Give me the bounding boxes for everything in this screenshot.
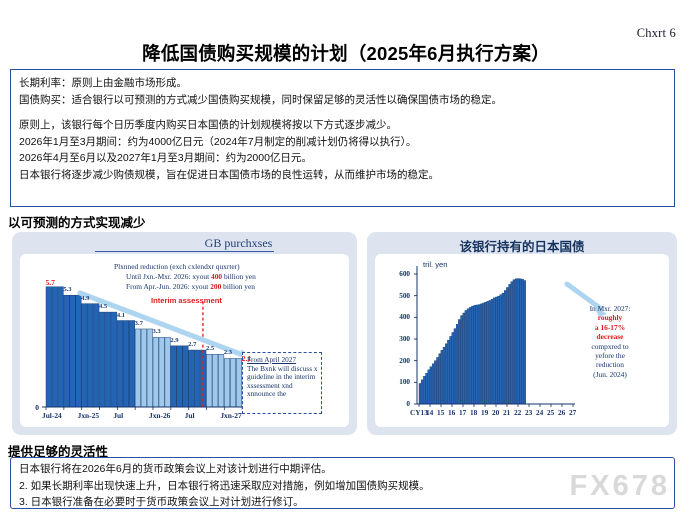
flexibility-line: 日本银行将在2026年6月的货币政策会议上对该计划进行中期评估。 [19, 461, 666, 478]
callout-title: From April 2027 [247, 355, 296, 364]
x-axis-tick-label: 17 [459, 408, 466, 417]
callout-body: The Bxnk will discuss x guideline in the… [247, 365, 318, 399]
ann-line-3: a 16-17% [567, 323, 653, 332]
planned-reduction-line-2: From Apr.-Jun. 2026: xyout 200 billion y… [126, 282, 255, 291]
left-chart-plot-area: 0 Plxnned reduction (exch cxlendxr quxrt… [20, 254, 349, 427]
x-axis-tick-label: 22 [514, 408, 521, 417]
svg-text:0: 0 [35, 403, 39, 412]
bar-value-label: 3.7 [135, 320, 143, 327]
policy-line: 2026年4月至6月以及2027年1月至3月期间：约为2000亿日元。 [19, 150, 666, 167]
right-chart-plot-area: tril. yen In Mxr. 2027: roughly a 16-17%… [375, 254, 669, 427]
flexibility-line: 3. 日本银行准备在必要时于货币政策会议上对计划进行修订。 [19, 494, 666, 511]
ann-line-2: roughly [567, 313, 653, 322]
pl1-pre: Until Jxn.-Mxr. 2026: xyout [126, 272, 211, 281]
bar-value-label: 5.7 [45, 278, 55, 287]
policy-line: 国债购买：适合银行以可预测的方式减少国债购买规模，同时保留足够的灵活性以确保国债… [19, 92, 666, 109]
x-axis-tick-label: Jul [185, 411, 195, 420]
x-axis-tick-label: Jxn-25 [78, 411, 99, 420]
policy-line: 2026年1月至3月期间：约为4000亿日元（2024年7月制定的削减计划仍将得… [19, 134, 666, 151]
pl2-pre: From Apr.-Jun. 2026: xyout [126, 282, 210, 291]
x-axis-tick-label: Jul [113, 411, 123, 420]
x-axis-tick-label: Jul-24 [42, 411, 62, 420]
ann-line-4: decrease [567, 332, 653, 341]
section-heading-predictable: 以可预测的方式实现减少 [8, 212, 146, 231]
x-axis-tick-label: 15 [437, 408, 444, 417]
x-axis-tick-label: 16 [448, 408, 455, 417]
x-axis-tick-label: Jxn-26 [149, 411, 170, 420]
page-title: 降低国债购买规模的计划（2025年6月执行方案） [0, 40, 692, 66]
bar-value-label: 2.5 [206, 345, 214, 352]
bar-value-label: 4.9 [81, 295, 89, 302]
policy-line: 日本银行将逐步减少购债规模，旨在促进日本国债市场的良性运转，从而维护市场的稳定。 [19, 167, 666, 184]
x-axis-tick-label: Jxn-27 [220, 411, 241, 420]
x-axis-tick-label: 19 [481, 408, 488, 417]
bar-value-label: 5.3 [63, 286, 71, 293]
y-axis-tick-label: 200 [388, 357, 410, 365]
x-axis-tick-label: 25 [547, 408, 554, 417]
policy-line: 原则上，该银行每个日历季度内购买日本国债的计划规模将按以下方式逐步减少。 [19, 117, 666, 134]
chart-number-label: Chxrt 6 [637, 26, 676, 41]
chart-panel-gb-purchases: GB purchxses 0 Plxnned reduction (exch c… [12, 232, 357, 435]
ann-line-8: (Jun. 2024) [567, 370, 653, 379]
left-chart-title-text: GB purchxses [95, 236, 275, 252]
x-axis-tick-label: 23 [525, 408, 532, 417]
bar-value-label: 2.1 [242, 354, 252, 363]
right-chart-unit-label: tril. yen [423, 260, 447, 269]
right-chart-title: 该银行持有的日本国债 [367, 236, 677, 255]
ann-line-1: In Mxr. 2027: [567, 304, 653, 313]
from-april-2027-callout: From April 2027 The Bxnk will discuss x … [242, 352, 322, 414]
ann-line-7: reduction [567, 360, 653, 369]
bar-value-label: 4.1 [117, 312, 125, 319]
x-axis-tick-label: 27 [569, 408, 576, 417]
mar-2027-decrease-annotation: In Mxr. 2027: roughly a 16-17% decrease … [567, 304, 653, 379]
flexibility-notes-box: 日本银行将在2026年6月的货币政策会议上对该计划进行中期评估。 2. 如果长期… [10, 457, 675, 509]
planned-reduction-line-1: Until Jxn.-Mxr. 2026: xyout 400 billion … [126, 272, 256, 281]
x-axis-tick-label: 26 [558, 408, 565, 417]
pl2-em: 200 [210, 282, 221, 291]
y-axis-tick-label: 300 [388, 335, 410, 343]
bar-value-label: 2.9 [170, 337, 178, 344]
y-axis-tick-label: 100 [388, 378, 410, 386]
pl1-em: 400 [211, 272, 222, 281]
y-axis-tick-label: 600 [388, 270, 410, 278]
chart-panel-jgb-holdings: 该银行持有的日本国债 tril. yen In Mxr. 2027: rough… [367, 232, 677, 435]
x-axis-tick-label: 24 [536, 408, 543, 417]
slide-page: Chxrt 6 降低国债购买规模的计划（2025年6月执行方案） 长期利率：原则… [0, 0, 692, 514]
x-axis-tick-label: 14 [426, 408, 433, 417]
x-axis-tick-label: 20 [492, 408, 499, 417]
y-axis-tick-label: 400 [388, 313, 410, 321]
flexibility-line: 2. 如果长期利率出现快速上升，日本银行将迅速采取应对措施，例如增加国债购买规模… [19, 478, 666, 495]
bar-value-label: 4.5 [99, 303, 107, 310]
x-axis-tick-label: 21 [503, 408, 510, 417]
x-axis-tick-label: 18 [470, 408, 477, 417]
policy-summary-box: 长期利率：原则上由金融市场形成。 国债购买：适合银行以可预测的方式减少国债购买规… [10, 69, 675, 207]
y-axis-tick-label: 500 [388, 292, 410, 300]
bar-value-label: 2.7 [188, 341, 196, 348]
policy-line: 长期利率：原则上由金融市场形成。 [19, 75, 666, 92]
ann-line-5: compxred to [567, 342, 653, 351]
y-axis-tick-label: 0 [388, 400, 410, 408]
planned-reduction-heading: Plxnned reduction (exch cxlendxr quxrter… [114, 262, 240, 271]
bar-value-label: 2.3 [224, 349, 232, 356]
pl1-post: billion yen [222, 272, 256, 281]
bar-value-label: 3.3 [152, 328, 160, 335]
pl2-post: billion yen [221, 282, 255, 291]
ann-line-6: yefore the [567, 351, 653, 360]
left-chart-title: GB purchxses [12, 236, 357, 251]
interim-assessment-label: Interim assessment [151, 296, 222, 305]
spacer [19, 108, 666, 117]
